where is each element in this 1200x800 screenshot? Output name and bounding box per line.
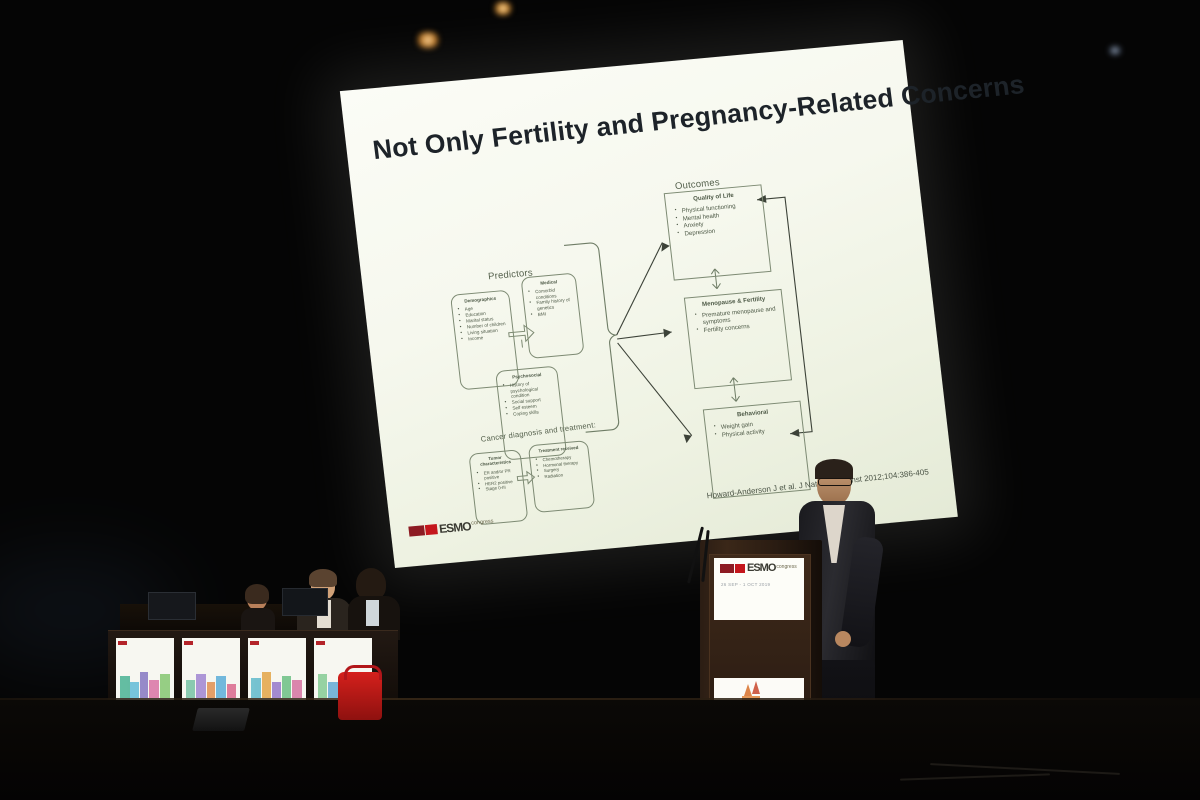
- panelist-3: [348, 570, 402, 638]
- panel-card-graphic: [116, 638, 174, 700]
- panel-card: [248, 638, 306, 700]
- panelist-hair: [245, 584, 269, 604]
- stage-scene: Not Only Fertility and Pregnancy-Related…: [0, 0, 1200, 800]
- panel-monitor-screen: [148, 592, 196, 620]
- box-item-list: Age Education Marital status Number of c…: [455, 303, 510, 342]
- speaker-glasses: [818, 478, 852, 486]
- ceiling-light-3: [1108, 46, 1122, 55]
- logo-block-dark: [408, 525, 425, 536]
- box-title: Tumor characteristics: [473, 455, 518, 469]
- panelist-1: [237, 586, 279, 636]
- logo-block-red: [735, 564, 745, 573]
- lectern-date-line: 26 SEP - 1 OCT 2019: [721, 582, 770, 587]
- diagram-box-tumor-characteristics: Tumor characteristics ER and/or PR posit…: [468, 449, 528, 525]
- logo-block-dark: [720, 564, 734, 573]
- ceiling-light-2: [493, 2, 513, 15]
- diagram-box-treatment-received: Treatment received Chemotherapy Hormonal…: [528, 440, 596, 513]
- logo-suffix: congress: [471, 519, 494, 527]
- panelist-shirt: [366, 600, 379, 626]
- panel-monitor-screen-2: [282, 588, 328, 616]
- box-item-list: Comorbid conditions Family history of ge…: [526, 286, 576, 318]
- panel-card-graphic: [248, 638, 306, 700]
- ceiling-light-1: [415, 32, 441, 48]
- box-item-list: ER and/or PR positive HER2 positive Stag…: [474, 467, 520, 493]
- speaker-hair: [815, 459, 853, 479]
- diagram-box-quality-of-life: Quality of Life Physical functioning Men…: [664, 184, 772, 280]
- floor-monitor-wedge: [192, 708, 250, 731]
- speaker-hand: [835, 631, 851, 647]
- lectern-branding-panel: ESMO congress 26 SEP - 1 OCT 2019: [714, 558, 804, 620]
- panel-card: [116, 638, 174, 700]
- box-item-list: History of psychological condition Socia…: [501, 379, 559, 418]
- logo-suffix: congress: [776, 564, 796, 570]
- box-item-list: Premature menopause and symptoms Fertili…: [693, 305, 779, 335]
- panelist-hair: [309, 569, 337, 587]
- logo-wordmark: ESMO: [747, 564, 775, 573]
- panel-card: [182, 638, 240, 700]
- box-item-list: Chemotherapy Hormonal therapy Surgery Ra…: [533, 453, 587, 480]
- box-item-list: Physical functioning Mental health Anxie…: [672, 201, 759, 239]
- diagram-box-menopause-fertility: Menopause & Fertility Premature menopaus…: [684, 289, 792, 389]
- logo-wordmark: ESMO: [439, 521, 472, 534]
- stage-floor: [0, 700, 1200, 800]
- red-backpack: [338, 672, 382, 720]
- logo-block-red: [425, 524, 438, 535]
- panel-card-graphic: [182, 638, 240, 700]
- diagram-box-medical: Medical Comorbid conditions Family histo…: [520, 273, 584, 359]
- esmo-logo-lectern: ESMO congress: [720, 564, 797, 573]
